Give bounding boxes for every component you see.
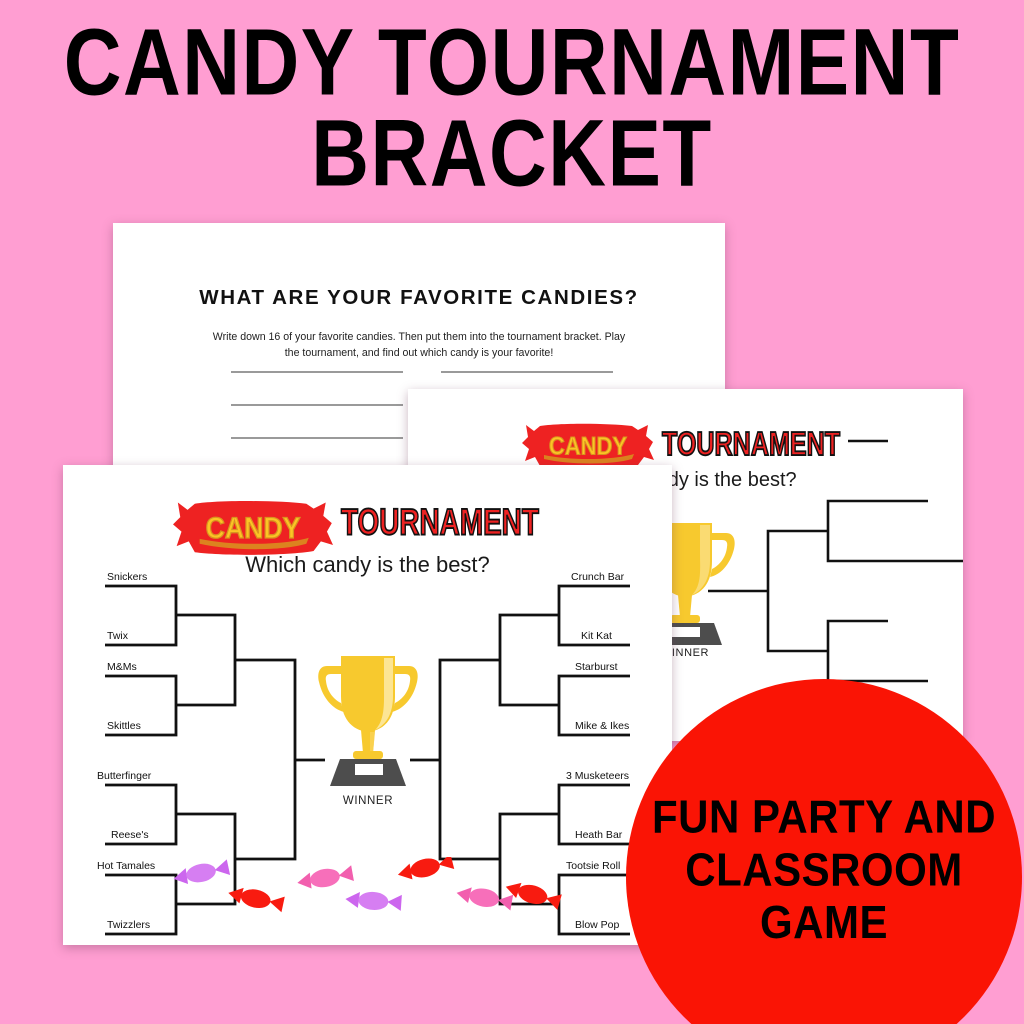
candy-tournament-logo-mid: CANDY TOURNAMENT xyxy=(392,417,947,469)
bracket-slot-left-8[interactable]: Twizzlers xyxy=(107,919,150,931)
bracket-slot-left-5[interactable]: Butterfinger xyxy=(97,770,151,782)
write-in-line[interactable] xyxy=(231,371,403,373)
bracket-slot-right-8[interactable]: Blow Pop xyxy=(575,919,619,931)
candy-tournament-logo-front: CANDY TOURNAMENT xyxy=(63,495,672,555)
candy-wrapper-icon: CANDY xyxy=(173,500,333,556)
svg-text:CANDY: CANDY xyxy=(206,511,301,545)
bracket-slot-left-6[interactable]: Reese's xyxy=(111,829,149,841)
bracket-slot-right-2[interactable]: Kit Kat xyxy=(581,630,612,642)
bracket-slot-right-5[interactable]: 3 Musketeers xyxy=(566,770,629,782)
bracket-slot-right-4[interactable]: Mike & Ikes xyxy=(575,720,629,732)
bracket-slot-left-4[interactable]: Skittles xyxy=(107,720,141,732)
bracket-slot-right-3[interactable]: Starburst xyxy=(575,661,618,673)
page-title: CANDY TOURNAMENT BRACKET xyxy=(0,18,1024,199)
questionnaire-heading: WHAT ARE YOUR FAVORITE CANDIES? xyxy=(113,286,725,310)
bracket-slot-left-1[interactable]: Snickers xyxy=(107,571,147,583)
write-in-line[interactable] xyxy=(441,371,613,373)
write-in-line[interactable] xyxy=(231,437,403,439)
bracket-slot-right-6[interactable]: Heath Bar xyxy=(575,829,622,841)
promo-badge-line-2: CLASSROOM xyxy=(652,844,996,897)
promo-badge-line-1: FUN PARTY AND xyxy=(652,791,996,844)
write-in-line[interactable] xyxy=(231,404,403,406)
bracket-slot-left-2[interactable]: Twix xyxy=(107,630,128,642)
promo-badge-line-3: GAME xyxy=(652,896,996,949)
logo-tournament-word-front: TOURNAMENT xyxy=(341,502,539,545)
questionnaire-instructions: Write down 16 of your favorite candies. … xyxy=(209,329,629,362)
candy-bracket-card[interactable]: CANDY TOURNAMENT Which candy is the best… xyxy=(63,465,672,945)
promo-badge-text: FUN PARTY AND CLASSROOM GAME xyxy=(652,791,996,949)
page-title-line-2: BRACKET xyxy=(0,109,1024,200)
winner-label-front: WINNER xyxy=(313,795,423,807)
bracket-slot-right-1[interactable]: Crunch Bar xyxy=(571,571,624,583)
candy-decoration-row xyxy=(168,857,568,927)
bracket-slot-right-7[interactable]: Tootsie Roll xyxy=(566,860,620,872)
candy-wrapper-icon: CANDY xyxy=(522,423,654,469)
bracket-slot-left-7[interactable]: Hot Tamales xyxy=(97,860,155,872)
logo-tournament-word-mid: TOURNAMENT xyxy=(662,425,840,464)
svg-text:CANDY: CANDY xyxy=(549,432,628,459)
bracket-slot-left-3[interactable]: M&Ms xyxy=(107,661,137,673)
trophy-icon-front xyxy=(313,645,423,795)
page-title-line-1: CANDY TOURNAMENT xyxy=(0,18,1024,109)
